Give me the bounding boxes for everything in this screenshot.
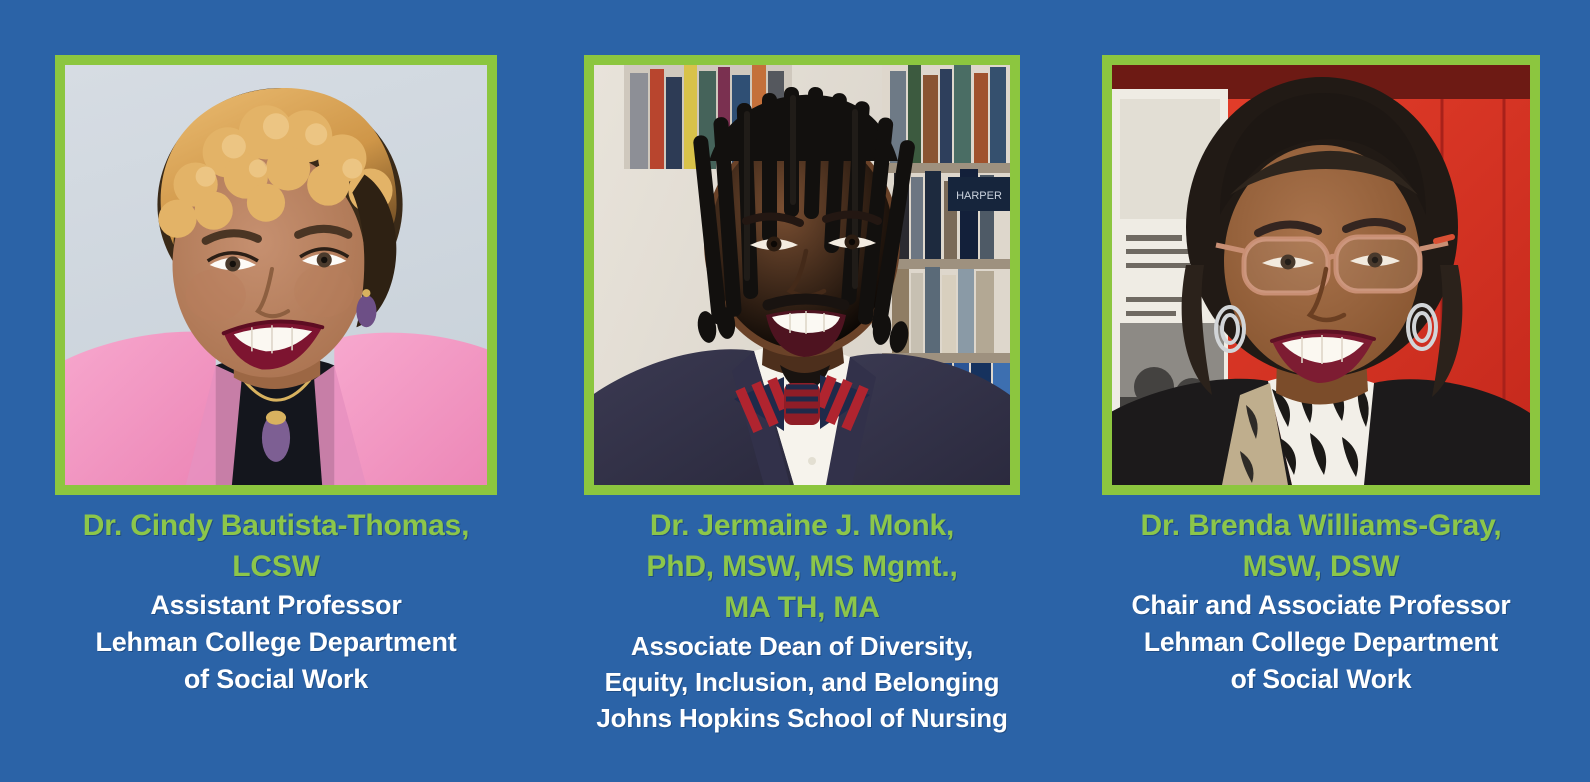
person-role: Chair and Associate Professor Lehman Col…	[1052, 587, 1590, 698]
person-role: Associate Dean of Diversity, Equity, Inc…	[552, 628, 1052, 736]
person-role: Assistant Professor Lehman College Depar…	[0, 587, 552, 698]
caption: Dr. Brenda Williams-Gray, MSW, DSW Chair…	[1052, 495, 1590, 698]
caption: Dr. Jermaine J. Monk, PhD, MSW, MS Mgmt.…	[552, 495, 1052, 736]
speaker-card-brenda-williams-gray: Dr. Brenda Williams-Gray, MSW, DSW Chair…	[1052, 0, 1590, 698]
photo-frame	[55, 55, 497, 495]
person-name: Dr. Jermaine J. Monk, PhD, MSW, MS Mgmt.…	[552, 505, 1052, 628]
caption: Dr. Cindy Bautista-Thomas, LCSW Assistan…	[0, 495, 552, 698]
speaker-panel: Dr. Cindy Bautista-Thomas, LCSW Assistan…	[0, 0, 1590, 782]
photo-frame: HARPER	[584, 55, 1020, 495]
portrait-cindy-bautista-thomas	[65, 65, 487, 485]
photo-frame	[1102, 55, 1540, 495]
svg-text:HARPER: HARPER	[956, 190, 1002, 202]
person-name: Dr. Cindy Bautista-Thomas, LCSW	[0, 505, 552, 587]
portrait-jermaine-j-monk: HARPER	[594, 65, 1010, 485]
speaker-card-cindy-bautista-thomas: Dr. Cindy Bautista-Thomas, LCSW Assistan…	[0, 0, 552, 698]
person-name: Dr. Brenda Williams-Gray, MSW, DSW	[1052, 505, 1590, 587]
speaker-card-jermaine-j-monk: HARPER	[552, 0, 1052, 736]
portrait-brenda-williams-gray	[1112, 65, 1530, 485]
